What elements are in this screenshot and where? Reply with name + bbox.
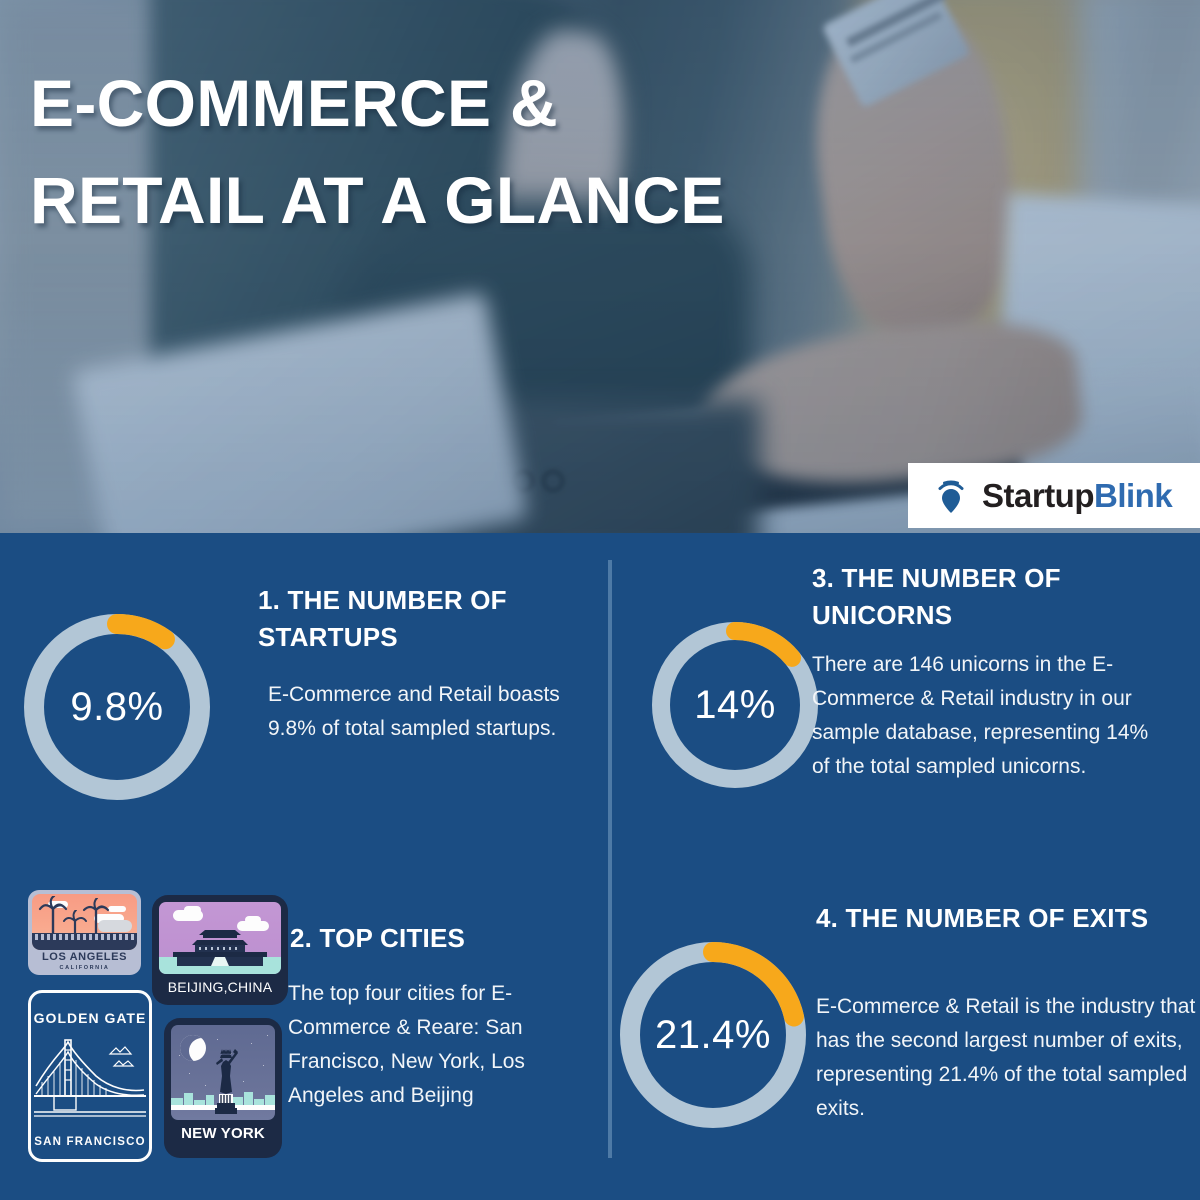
logo-text-startup: Startup xyxy=(982,477,1094,514)
page-title: E-COMMERCE & RETAIL AT A GLANCE xyxy=(30,55,890,249)
section-body-startups: E-Commerce and Retail boasts 9.8% of tot… xyxy=(268,678,588,746)
page-title-line-2: RETAIL AT A GLANCE xyxy=(30,152,890,249)
section-body-exits: E-Commerce & Retail is the industry that… xyxy=(816,990,1196,1126)
badge-sublabel-california: CALIFORNIA xyxy=(32,965,137,971)
badge-san-francisco: GOLDEN GATE xyxy=(28,990,152,1162)
section-top-cities: LOS ANGELES CALIFORNIA xyxy=(0,885,608,1185)
logo-wordmark: StartupBlink xyxy=(982,477,1172,515)
donut-value-startups: 9.8% xyxy=(22,612,212,802)
badge-los-angeles: LOS ANGELES CALIFORNIA xyxy=(28,890,141,975)
section-heading-exits: 4. THE NUMBER OF EXITS xyxy=(816,900,1196,937)
golden-gate-bridge-illustration xyxy=(34,1032,146,1118)
los-angeles-illustration xyxy=(32,894,137,950)
location-pin-signal-icon xyxy=(930,475,972,517)
badge-label-beijing: BEIJING,CHINA xyxy=(159,980,281,994)
donut-value-exits: 21.4% xyxy=(618,940,808,1130)
donut-chart-startups: 9.8% xyxy=(22,612,212,802)
badge-label-new-york: NEW YORK xyxy=(171,1126,275,1141)
badge-label-san-francisco: SAN FRANCISCO xyxy=(28,1136,152,1148)
startupblink-logo[interactable]: StartupBlink xyxy=(908,463,1200,528)
section-heading-unicorns: 3. THE NUMBER OF UNICORNS xyxy=(812,560,1182,634)
new-york-illustration xyxy=(171,1025,275,1120)
moon-icon xyxy=(180,1035,206,1061)
section-heading-startups: 1. THE NUMBER OF STARTUPS xyxy=(258,582,588,656)
beijing-illustration xyxy=(159,902,281,974)
page-title-line-1: E-COMMERCE & xyxy=(30,55,890,152)
donut-chart-exits: 21.4% xyxy=(618,940,808,1130)
section-unicorns: 14% 3. THE NUMBER OF UNICORNS There are … xyxy=(608,555,1200,855)
badge-new-york: NEW YORK xyxy=(164,1018,282,1158)
badge-label-los-angeles: LOS ANGELES xyxy=(32,952,137,963)
badge-beijing: BEIJING,CHINA xyxy=(152,895,288,1005)
donut-value-unicorns: 14% xyxy=(650,620,820,790)
city-badges-group: LOS ANGELES CALIFORNIA xyxy=(28,890,288,1170)
section-body-top-cities: The top four cities for E-Commerce & Rea… xyxy=(288,977,588,1113)
statue-of-liberty-icon xyxy=(209,1044,243,1114)
logo-text-blink: Blink xyxy=(1094,477,1172,514)
badge-label-golden-gate: GOLDEN GATE xyxy=(28,1010,152,1026)
section-body-unicorns: There are 146 unicorns in the E-Commerce… xyxy=(812,648,1162,784)
section-startups: 9.8% 1. THE NUMBER OF STARTUPS E-Commerc… xyxy=(0,560,608,860)
donut-chart-unicorns: 14% xyxy=(650,620,820,790)
section-exits: 21.4% 4. THE NUMBER OF EXITS E-Commerce … xyxy=(608,900,1200,1190)
hero-banner: E-COMMERCE & RETAIL AT A GLANCE StartupB… xyxy=(0,0,1200,533)
section-heading-top-cities: 2. TOP CITIES xyxy=(290,920,590,957)
